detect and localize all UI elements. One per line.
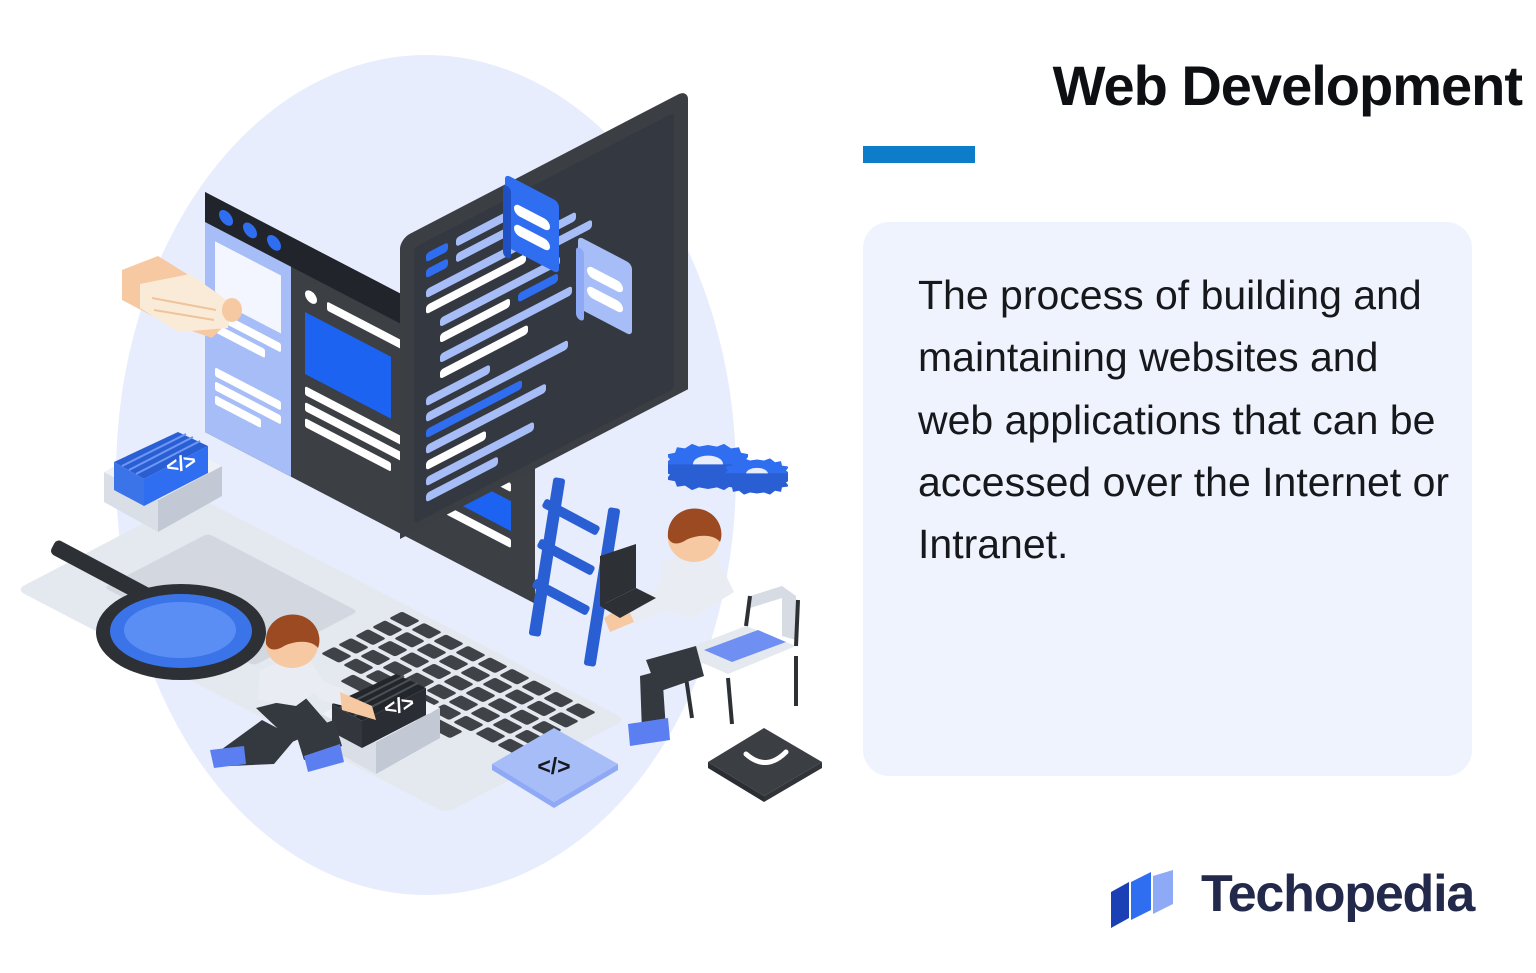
browser-dot (219, 207, 233, 228)
browser-dot (267, 232, 281, 253)
definition-text: The process of building and maintaining … (918, 264, 1463, 576)
code-symbol: </> (537, 753, 570, 779)
techopedia-logo-text: Techopedia (1201, 864, 1474, 924)
definition-card: The process of building and maintaining … (863, 222, 1472, 776)
gear-small-icon (726, 448, 788, 504)
code-tile-icon: </> (490, 726, 620, 810)
dark-tile-icon (706, 726, 824, 806)
illustration: </> (0, 0, 850, 973)
techopedia-logo[interactable]: Techopedia (1109, 866, 1489, 934)
title-accent-bar (863, 146, 975, 163)
developer-kneeling-figure (200, 600, 420, 790)
reaching-hand (120, 248, 250, 358)
infographic-page: </> (0, 0, 1536, 973)
file-box-blue-icon: </> (98, 432, 228, 548)
page-title: Web Development (862, 57, 1522, 116)
browser-dot (243, 220, 257, 241)
techopedia-logo-mark (1109, 870, 1191, 930)
developer-seated-figure (600, 500, 830, 760)
illustration-scene: </> (0, 0, 850, 973)
content-panel: Web Development The process of building … (850, 0, 1536, 973)
